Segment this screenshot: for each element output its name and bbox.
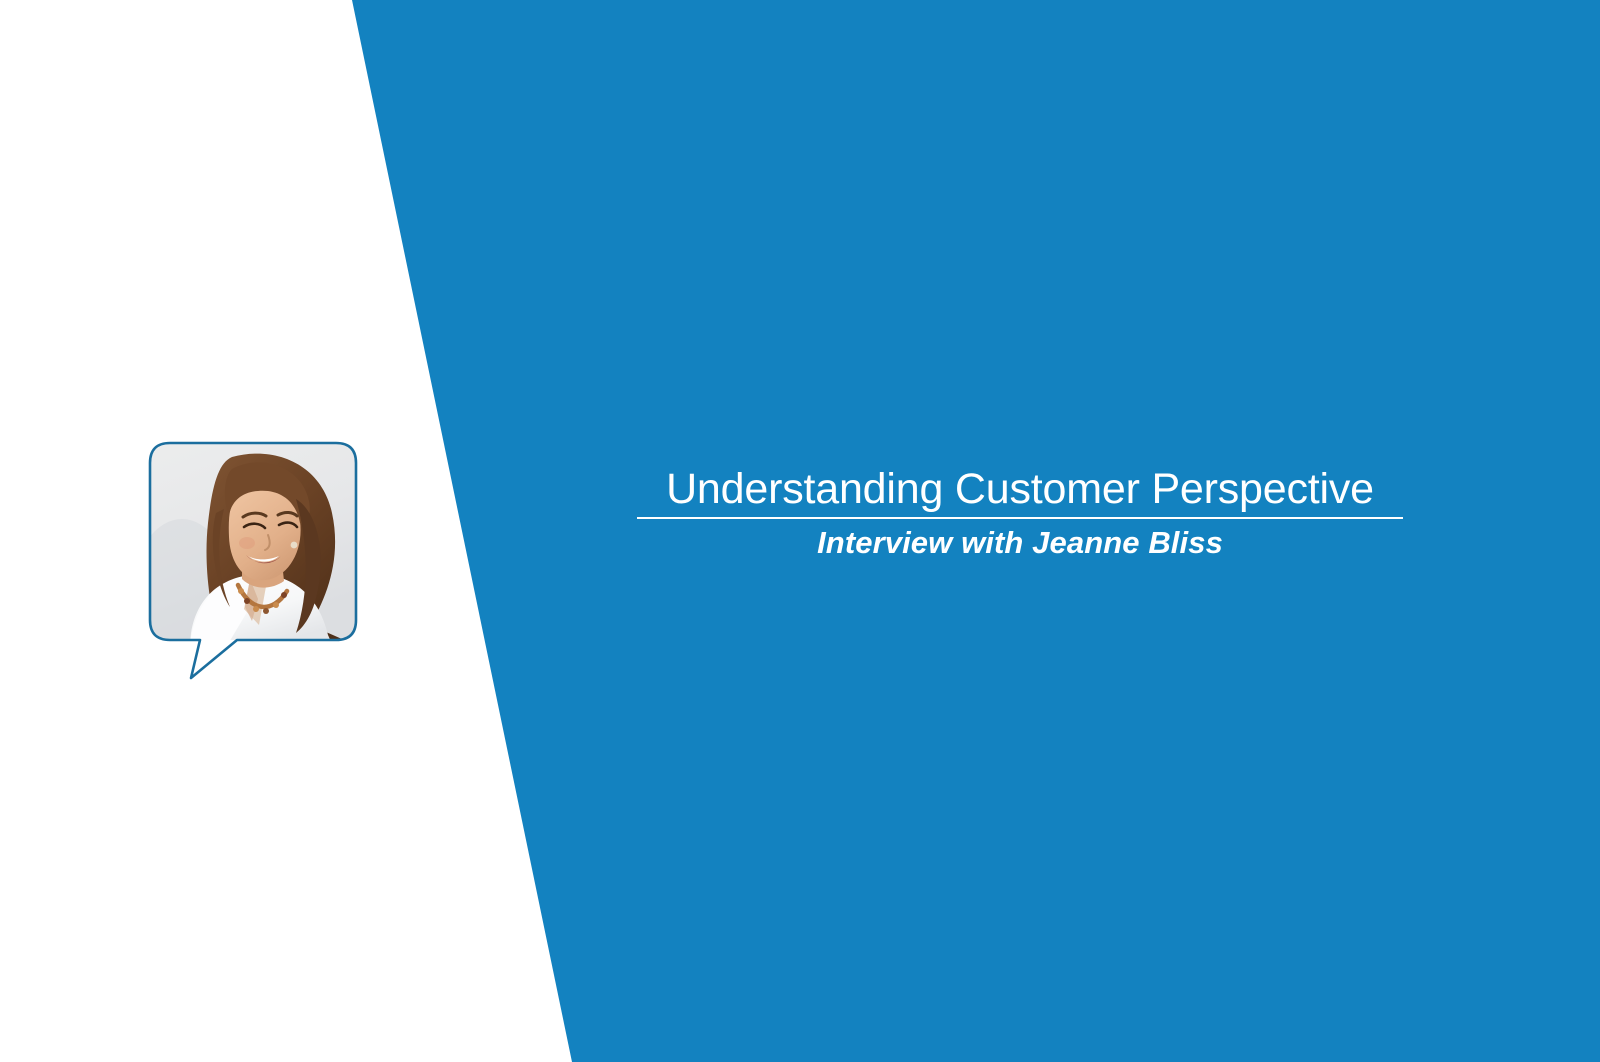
portrait-photo (146, 439, 360, 659)
title-block: Understanding Customer Perspective Inter… (637, 466, 1403, 561)
page-title: Understanding Customer Perspective (637, 466, 1403, 519)
presentation-slide: Understanding Customer Perspective Inter… (0, 0, 1600, 1062)
page-subtitle: Interview with Jeanne Bliss (637, 526, 1403, 561)
speaker-speech-bubble-avatar (146, 439, 360, 687)
speech-bubble-icon (146, 439, 360, 687)
